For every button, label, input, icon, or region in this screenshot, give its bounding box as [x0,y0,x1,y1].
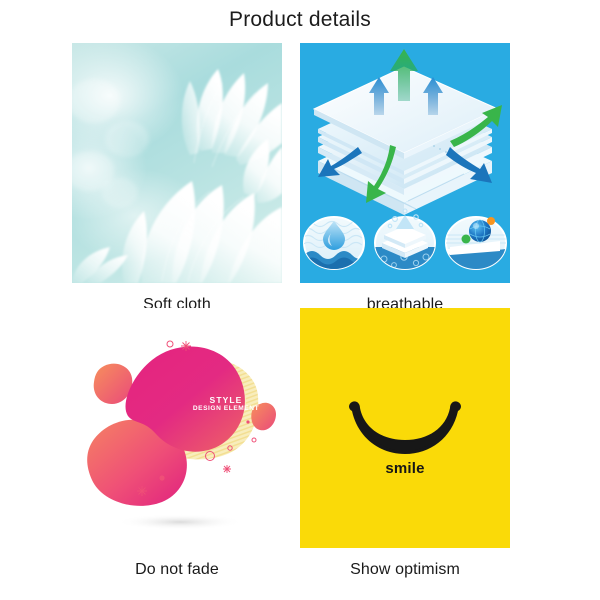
gallery-item[interactable]: smile Show optimism [300,308,510,579]
page-title: Product details [0,8,600,32]
breathable-layers-infographic[interactable] [300,43,510,283]
smile-curve-icon [300,308,510,548]
feather-shapes [72,43,282,283]
breathable-diagram [300,43,510,283]
fluid-blob-shapes [72,308,282,548]
soft-feathers-photo[interactable] [72,43,282,283]
gallery-item[interactable]: breathable [300,43,510,314]
gallery-item[interactable]: STYLE DESIGN ELEMENT Do not fade [72,308,282,579]
gallery-item-caption: Do not fade [72,548,282,579]
smile-overlay-text: smile [300,460,510,477]
gallery-item[interactable]: Soft cloth [72,43,282,314]
product-detail-gallery: Soft cloth [72,43,540,591]
gallery-item-caption: Show optimism [300,548,510,579]
product-details-page: Product details [0,0,600,600]
yellow-smile-graphic[interactable]: smile [300,308,510,548]
fluid-gradient-blob-graphic[interactable]: STYLE DESIGN ELEMENT [72,308,282,548]
